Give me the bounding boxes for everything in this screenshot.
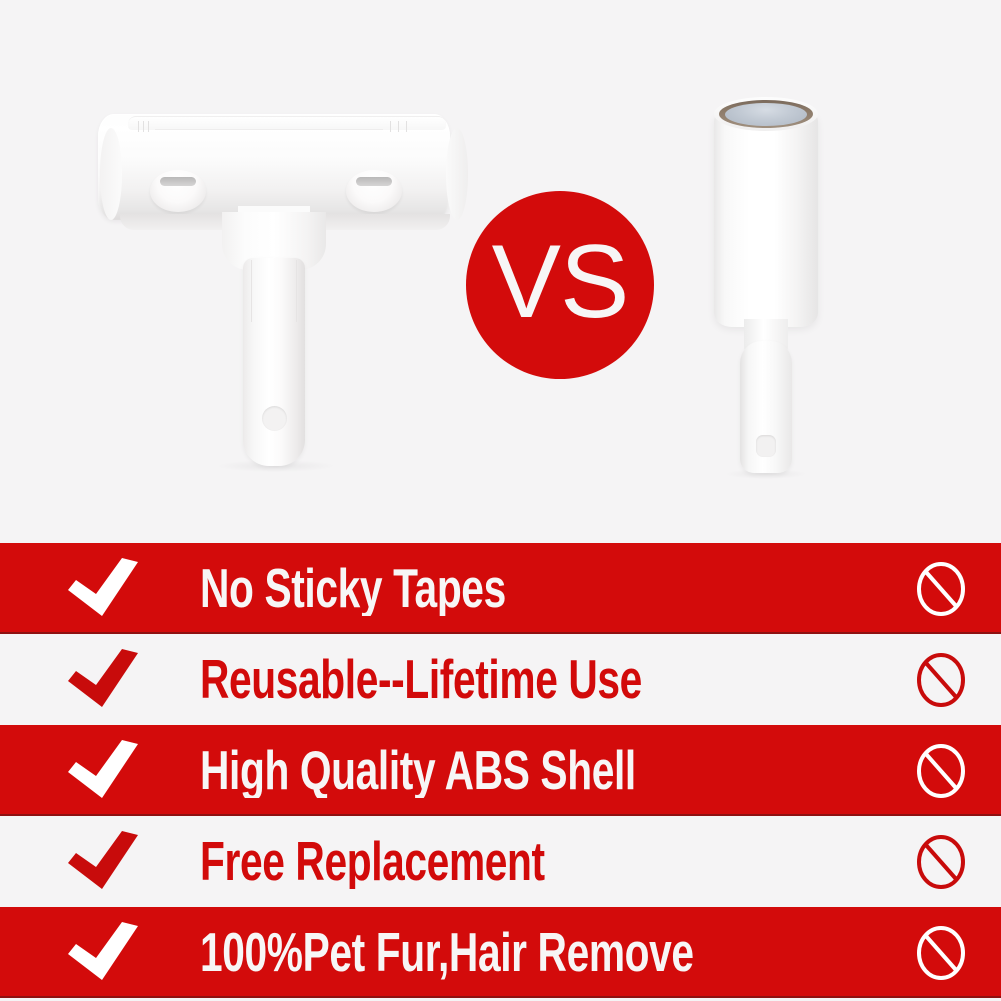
barrel-vent-line — [148, 121, 149, 132]
handle-groove — [296, 260, 297, 322]
handle-groove — [251, 260, 252, 322]
prohibition-icon — [881, 742, 1001, 800]
barrel-vent-line — [138, 121, 139, 132]
feature-row: 100%Pet Fur,Hair Remove — [0, 907, 1001, 998]
barrel-button-right — [346, 170, 402, 212]
prohibition-icon — [881, 833, 1001, 891]
right-product-image — [706, 95, 856, 475]
barrel-vent-line — [398, 121, 399, 132]
check-icon — [0, 920, 200, 986]
feature-label: Free Replacement — [200, 834, 545, 889]
feature-label-cell: No Sticky Tapes — [200, 561, 881, 616]
left-product-image — [88, 108, 460, 468]
barrel-vent-line — [143, 121, 144, 132]
vs-label: VS — [492, 230, 629, 334]
feature-label-cell: High Quality ABS Shell — [200, 743, 881, 798]
pet-hair-remover-barrel — [98, 114, 450, 220]
feature-label-cell: Free Replacement — [200, 834, 881, 889]
feature-label-cell: 100%Pet Fur,Hair Remove — [200, 925, 881, 980]
barrel-vent-line — [390, 121, 391, 132]
check-icon — [0, 647, 200, 713]
roller-handle-shaft — [740, 341, 792, 473]
feature-row: High Quality ABS Shell — [0, 725, 1001, 816]
check-icon — [0, 556, 200, 622]
prohibition-icon — [881, 924, 1001, 982]
product-comparison-image: VS No Sticky Tapes — [0, 0, 1001, 1001]
handle-shaft — [243, 258, 305, 466]
barrel-button-left — [150, 170, 206, 212]
check-icon — [0, 829, 200, 895]
feature-list: No Sticky Tapes Reusable--Lifetime Use — [0, 543, 1001, 1001]
feature-label: 100%Pet Fur,Hair Remove — [200, 925, 694, 980]
prohibition-icon — [881, 560, 1001, 618]
feature-label: Reusable--Lifetime Use — [200, 652, 642, 707]
vs-badge: VS — [466, 191, 654, 379]
feature-row: No Sticky Tapes — [0, 543, 1001, 634]
prohibition-icon — [881, 651, 1001, 709]
product-hero-section: VS — [0, 0, 1001, 543]
barrel-end-cap-left — [100, 128, 122, 220]
button-slot-icon — [356, 177, 392, 186]
lint-roller-tape-roll — [714, 111, 818, 327]
feature-label: High Quality ABS Shell — [200, 743, 636, 798]
button-slot-icon — [160, 177, 196, 186]
feature-row: Reusable--Lifetime Use — [0, 634, 1001, 725]
barrel-seam-line — [155, 129, 383, 130]
roller-inner-opening — [725, 103, 807, 126]
barrel-vent-line — [406, 121, 407, 132]
hanging-hole — [262, 406, 287, 431]
feature-label-cell: Reusable--Lifetime Use — [200, 652, 881, 707]
feature-label: No Sticky Tapes — [200, 561, 506, 616]
roller-hanging-slot — [756, 435, 776, 457]
check-icon — [0, 738, 200, 804]
barrel-end-cap-right — [446, 128, 468, 220]
feature-row: Free Replacement — [0, 816, 1001, 907]
